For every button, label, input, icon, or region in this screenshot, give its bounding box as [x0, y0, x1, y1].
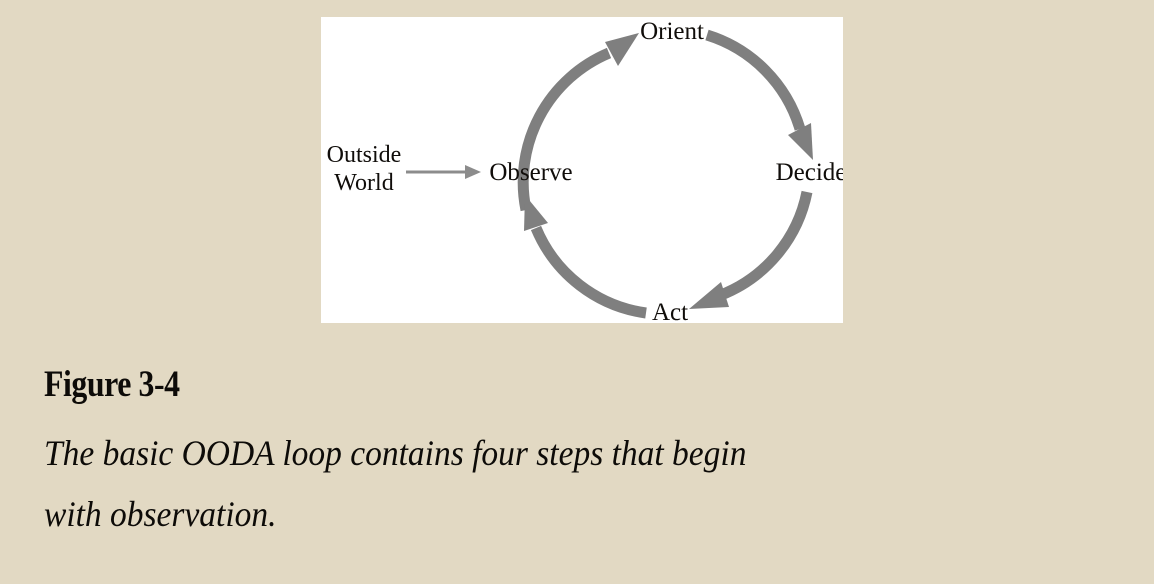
- figure-caption-text: The basic OODA loop contains four steps …: [44, 423, 1086, 545]
- edge-orient-to-decide: [707, 35, 813, 160]
- node-label-orient: Orient: [640, 18, 704, 45]
- ooda-loop-diagram: Observe Orient Decide Act Outside World: [321, 17, 843, 323]
- caption-line-1: The basic OODA loop contains four steps …: [44, 423, 1086, 484]
- outside-world-label-line1: Outside: [327, 142, 402, 168]
- figure-image-panel: Observe Orient Decide Act Outside World: [321, 17, 843, 323]
- edge-decide-to-act: [689, 192, 807, 309]
- edge-outside-world-to-observe: [406, 165, 481, 179]
- figure-caption: Figure 3-4 The basic OODA loop contains …: [44, 363, 1104, 545]
- node-label-decide: Decide: [776, 159, 843, 186]
- node-label-observe: Observe: [489, 159, 572, 186]
- outside-world-label-line2: World: [334, 170, 393, 196]
- figure-number: Figure 3-4: [44, 363, 956, 407]
- node-label-act: Act: [652, 299, 688, 323]
- caption-line-2: with observation.: [44, 484, 1086, 545]
- edge-act-to-observe: [524, 195, 646, 313]
